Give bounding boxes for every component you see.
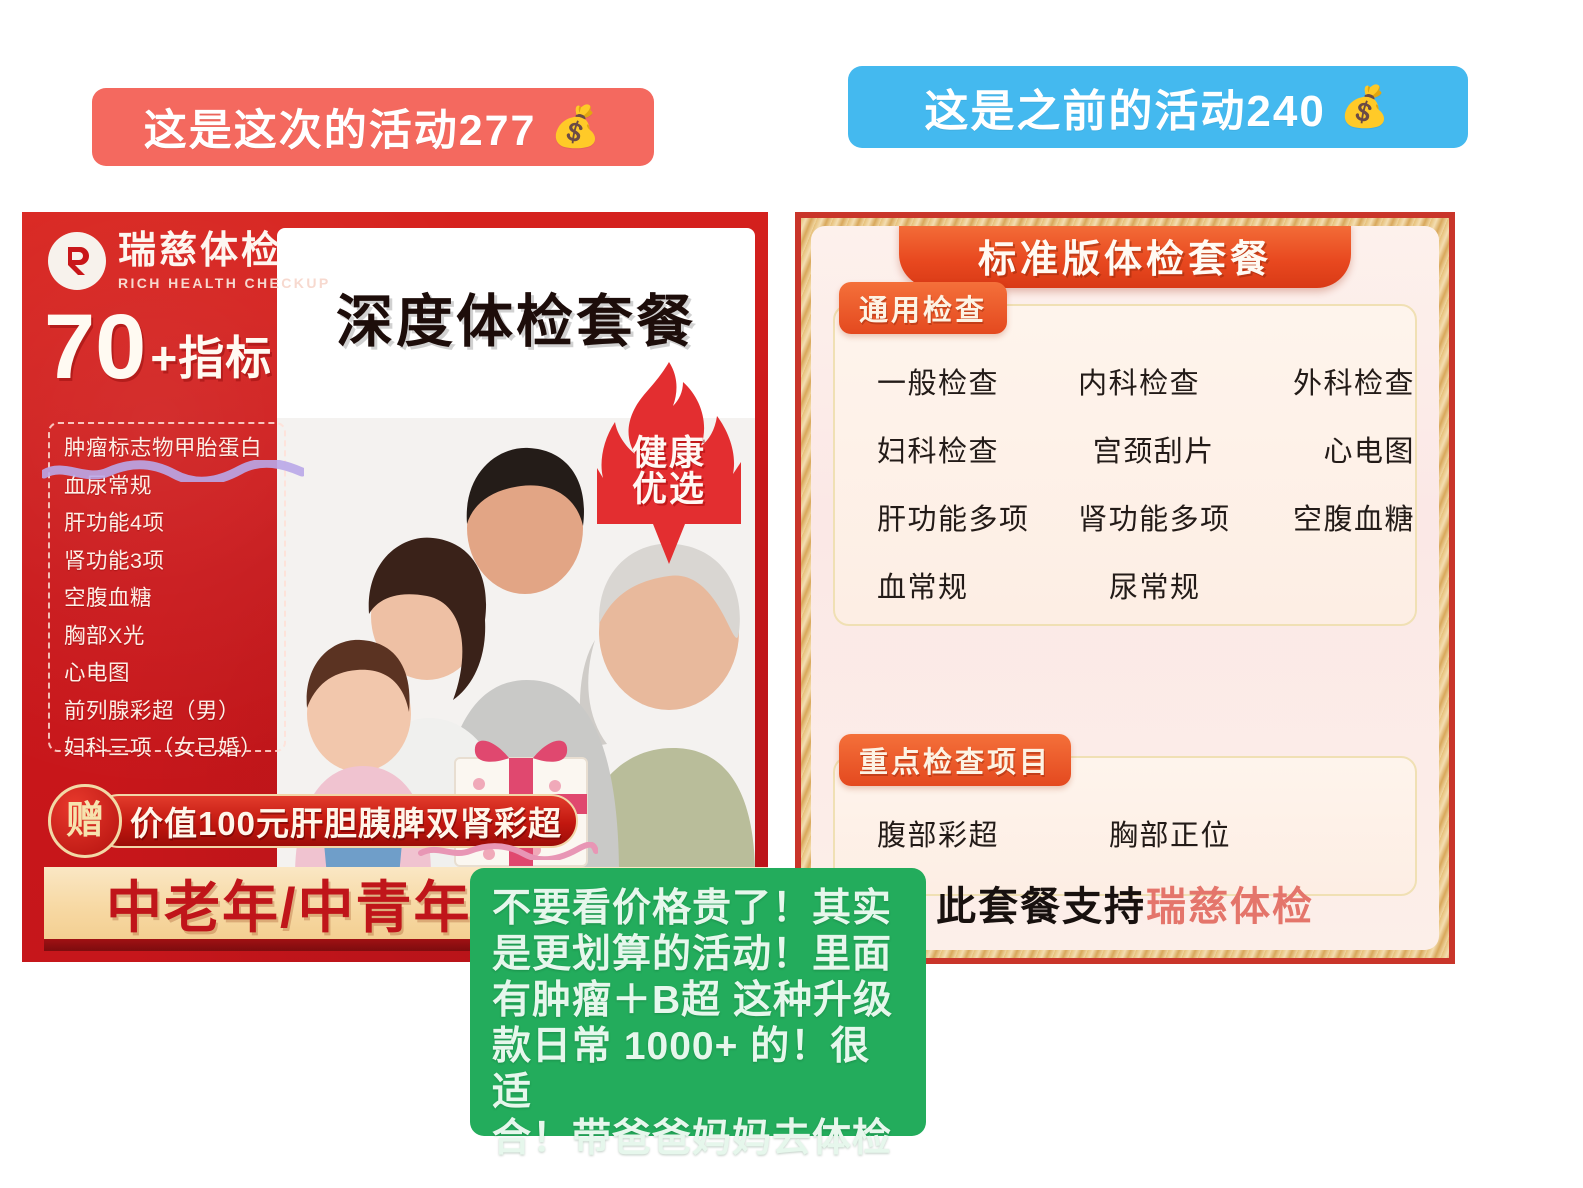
money-bag-icon: 💰 [1340, 87, 1392, 127]
annotation-previous-promo-text: 这是之前的活动240 [924, 75, 1325, 139]
list-item: 肿瘤标志物甲胎蛋白 [64, 438, 284, 460]
comment-line: 合！带爸爸妈妈去体检 [492, 1116, 904, 1162]
grid-cell: 肾功能多项 [1078, 496, 1293, 538]
list-item: 血尿常规 [64, 476, 284, 498]
gift-ribbon: 价值100元肝胆胰脾双肾彩超 赠 [48, 790, 578, 852]
grid-cell: 空腹血糖 [1293, 496, 1415, 538]
general-item-grid: 一般检查 内科检查 外科检查 妇科检查 宫颈刮片 心电图 肝功能多项 肾功能多项… [835, 306, 1415, 632]
section-tag-label: 通用检查 [859, 287, 987, 329]
gift-squiggle-icon [418, 842, 598, 860]
package-photo-card: 深度体检套餐 健康 优选 [277, 228, 755, 876]
grid-cell: 血常规 [877, 564, 1109, 606]
table-row: 一般检查 内科检查 外科检查 [877, 360, 1415, 402]
gold-banner-text: 中老年/中青年 [106, 863, 472, 944]
annotation-comment-bubble: 不要看价格贵了！其实 是更划算的活动！里面 有肿瘤＋B超 这种升级 款日常 10… [470, 868, 926, 1136]
annotation-current-promo-text: 这是这次的活动277 [144, 96, 537, 158]
flame-badge-line2: 优选 [589, 472, 749, 508]
metric-suffix: +指标 [150, 335, 272, 381]
grid-cell: 肝功能多项 [877, 496, 1078, 538]
comment-line: 是更划算的活动！里面 [492, 932, 904, 978]
table-row: 肝功能多项 肾功能多项 空腹血糖 [877, 496, 1415, 538]
grid-cell: 胸部正位 [1109, 812, 1357, 854]
list-item: 妇科三项（女已婚） [64, 738, 284, 760]
annotation-banner-current-promo: 这是这次的活动277 💰 [92, 88, 654, 166]
gift-badge-label: 赠 [66, 802, 104, 840]
list-item: 心电图 [64, 663, 284, 685]
gift-ribbon-bar: 价值100元肝胆胰脾双肾彩超 [92, 794, 578, 848]
metric-number: 70 [44, 308, 146, 387]
money-bag-icon: 💰 [550, 107, 602, 147]
list-item: 肝功能4项 [64, 513, 284, 535]
flame-badge-line1: 健康 [589, 436, 749, 472]
brand-name-en: RICH HEALTH CHECKUP [118, 276, 331, 290]
left-poster-deep-checkup-package: 瑞慈体检 RICH HEALTH CHECKUP 70 +指标 肿瘤标志物甲胎蛋… [22, 212, 768, 962]
grid-cell: 内科检查 [1078, 360, 1293, 402]
support-line-prefix: 此套餐支持 [936, 885, 1146, 929]
brand-logo-row: 瑞慈体检 RICH HEALTH CHECKUP [48, 232, 331, 290]
section-tag-label: 重点检查项目 [859, 739, 1051, 781]
section-tag-general: 通用检查 [839, 282, 1007, 334]
right-poster-standard-checkup-package: 标准版体检套餐 一般检查 内科检查 外科检查 妇科检查 宫颈刮片 心电图 肝功能… [795, 212, 1455, 964]
brand-logo-text: 瑞慈体检 RICH HEALTH CHECKUP [118, 232, 331, 290]
list-item: 肾功能3项 [64, 551, 284, 573]
gift-ribbon-text: 价值100元肝胆胰脾双肾彩超 [130, 797, 562, 845]
comment-line: 有肿瘤＋B超 这种升级 [492, 978, 904, 1024]
list-item: 前列腺彩超（男） [64, 701, 284, 723]
section-card-general: 一般检查 内科检查 外科检查 妇科检查 宫颈刮片 心电图 肝功能多项 肾功能多项… [833, 304, 1417, 626]
gift-badge: 赠 [48, 784, 122, 858]
right-poster-inner: 标准版体检套餐 一般检查 内科检查 外科检查 妇科检查 宫颈刮片 心电图 肝功能… [811, 226, 1439, 950]
section-tag-key-items: 重点检查项目 [839, 734, 1071, 786]
grid-cell: 心电图 [1323, 428, 1415, 470]
support-line-brand: 瑞慈体检 [1146, 885, 1314, 929]
checkup-item-list: 肿瘤标志物甲胎蛋白 血尿常规 肝功能4项 肾功能3项 空腹血糖 胸部X光 心电图… [48, 422, 286, 752]
list-item: 胸部X光 [64, 626, 284, 648]
flame-icon: 健康 优选 [589, 358, 749, 568]
flame-badge-text: 健康 优选 [589, 436, 749, 507]
table-row: 妇科检查 宫颈刮片 心电图 [877, 428, 1415, 470]
grid-cell: 一般检查 [877, 360, 1078, 402]
list-item: 空腹血糖 [64, 588, 284, 610]
brand-name-cn: 瑞慈体检 [118, 232, 331, 270]
grid-cell: 宫颈刮片 [1093, 428, 1324, 470]
table-row: 腹部彩超 胸部正位 [877, 812, 1415, 854]
metric-indicator-count: 70 +指标 [44, 308, 272, 387]
grid-cell: 尿常规 [1109, 564, 1357, 606]
grid-cell: 外科检查 [1293, 360, 1415, 402]
comment-line: 款日常 1000+ 的！很适 [492, 1024, 904, 1116]
grid-cell: 妇科检查 [877, 428, 1093, 470]
grid-cell: 腹部彩超 [877, 812, 1109, 854]
comment-line: 不要看价格贵了！其实 [492, 886, 904, 932]
table-row: 血常规 尿常规 [877, 564, 1415, 606]
annotation-banner-previous-promo: 这是之前的活动240 💰 [848, 66, 1468, 148]
right-poster-title: 标准版体检套餐 [978, 228, 1272, 283]
package-photo-title: 深度体检套餐 [277, 276, 755, 358]
right-poster-title-tab: 标准版体检套餐 [899, 226, 1351, 288]
rich-health-r-logo-icon [48, 232, 106, 290]
